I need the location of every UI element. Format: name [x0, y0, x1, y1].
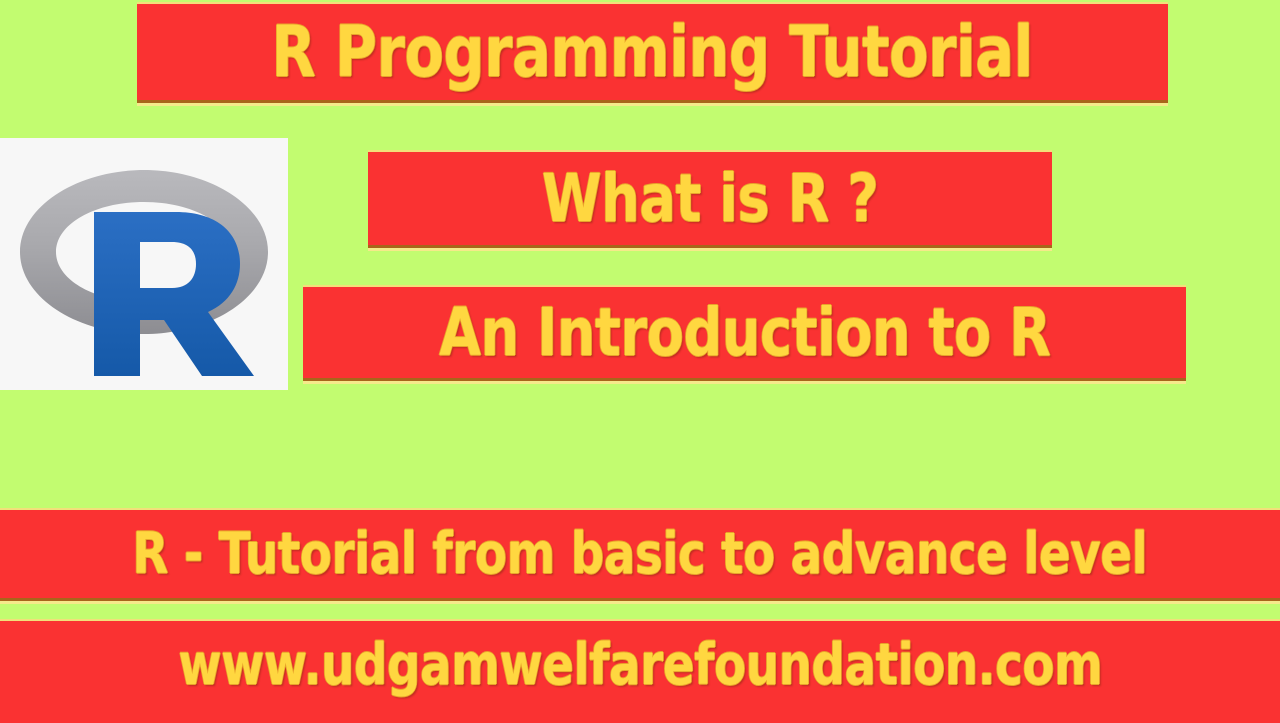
- title-banner: R Programming Tutorial: [137, 2, 1168, 103]
- website-banner: www.udgamwelfarefoundation.com: [0, 619, 1280, 723]
- question-banner: What is R ?: [368, 150, 1052, 248]
- question-text: What is R ?: [542, 166, 878, 232]
- r-logo-card: [0, 138, 288, 390]
- page-title: R Programming Tutorial: [272, 17, 1033, 87]
- subtitle-banner: An Introduction to R: [303, 285, 1186, 381]
- website-url: www.udgamwelfarefoundation.com: [178, 637, 1102, 694]
- slide-canvas: R Programming Tutorial What is: [0, 0, 1280, 720]
- r-language-logo-icon: [6, 144, 282, 384]
- subtitle-text: An Introduction to R: [439, 300, 1050, 366]
- tagline-text: R - Tutorial from basic to advance level: [133, 526, 1148, 583]
- tagline-banner: R - Tutorial from basic to advance level: [0, 508, 1280, 601]
